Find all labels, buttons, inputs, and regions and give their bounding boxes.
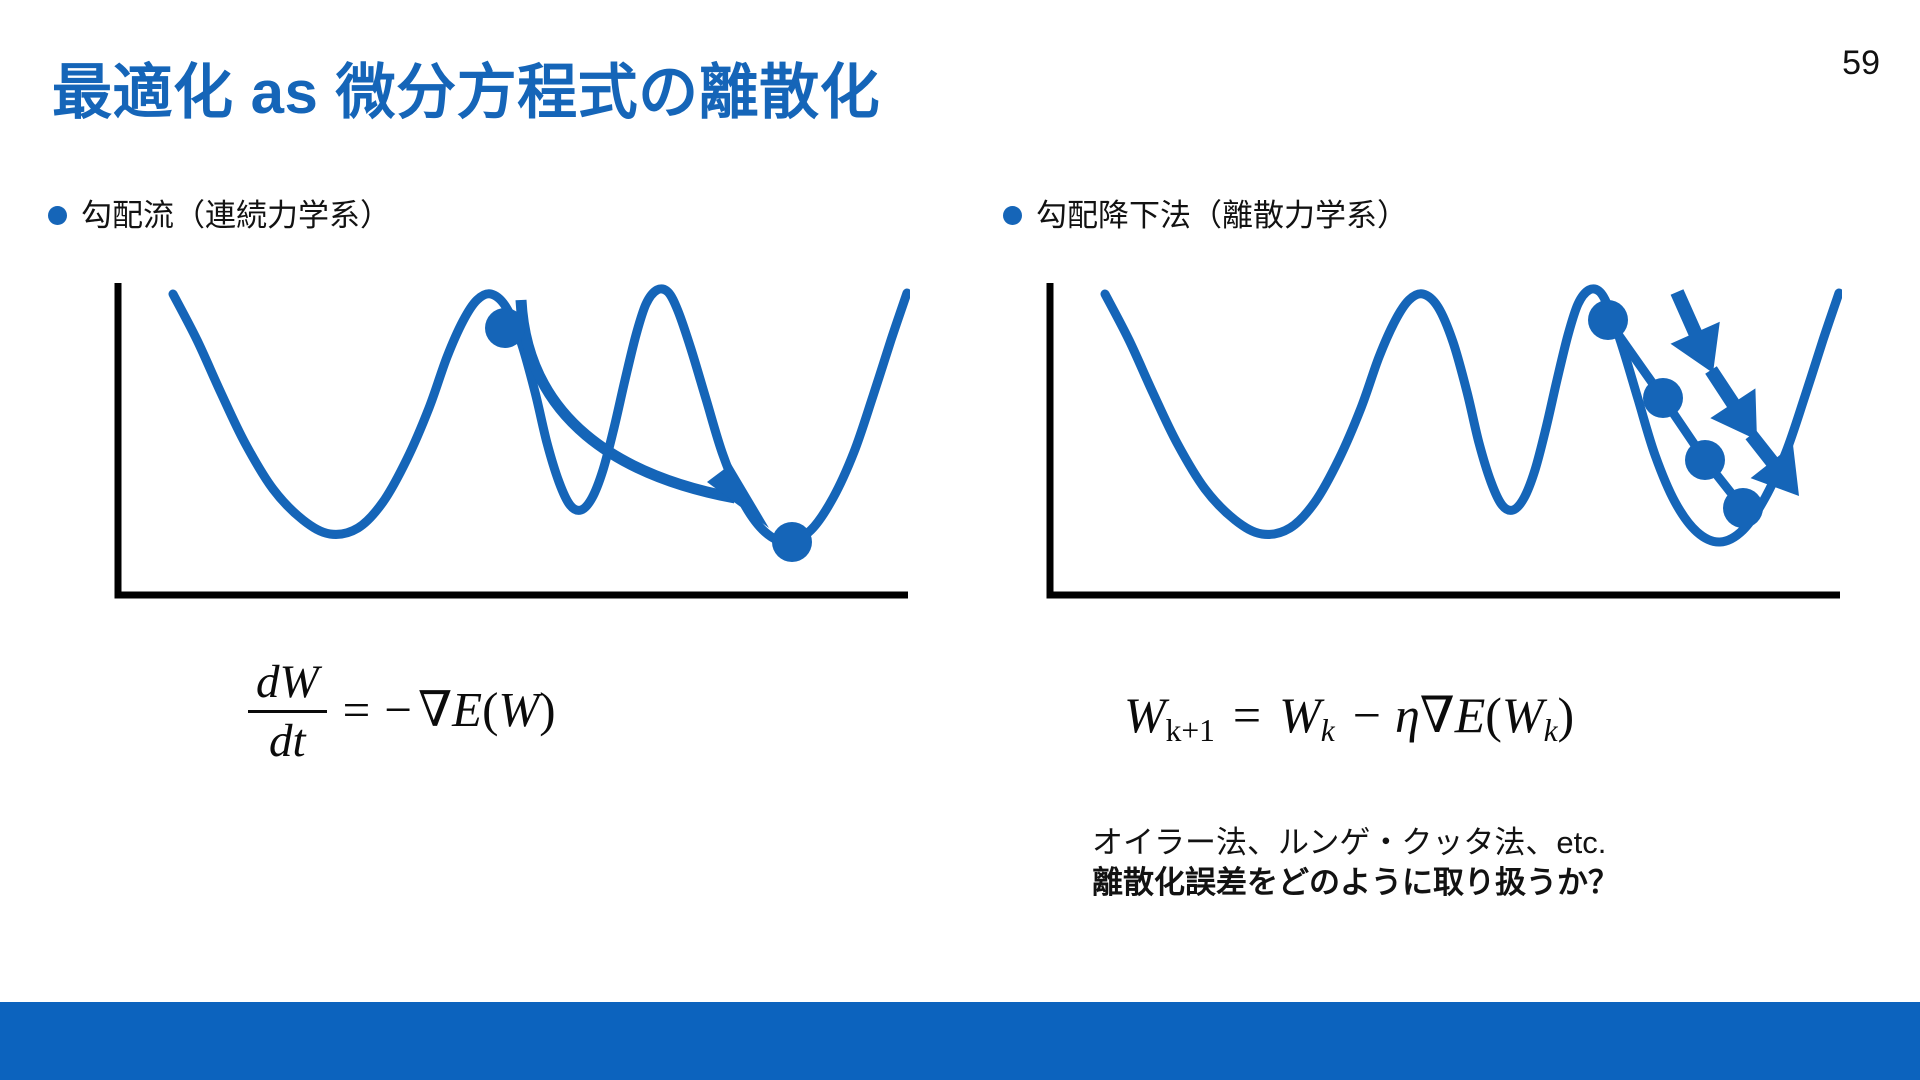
- descent-step-arrow-2: [1705, 366, 1757, 440]
- iterate-w-k1: [1643, 378, 1683, 418]
- arg-subscript: k: [1544, 713, 1558, 749]
- close-paren: ): [539, 681, 555, 738]
- fraction-bar: [248, 710, 327, 713]
- nabla-symbol: ∇: [1420, 686, 1455, 744]
- close-paren: ): [1558, 686, 1575, 744]
- gradient-descent-plot: [1012, 270, 1842, 610]
- arg-weight-symbol: W: [1502, 686, 1544, 744]
- energy-landscape-curve: [173, 289, 907, 542]
- minus-sign: −: [1353, 686, 1381, 744]
- open-paren: (: [482, 681, 498, 738]
- bullet-right-label: 勾配降下法（離散力学系）: [1036, 200, 1408, 231]
- gradient-flow-formula: dW dt = − ∇ E ( W ): [248, 655, 556, 765]
- bullet-left: 勾配流（連続力学系）: [48, 200, 391, 231]
- end-point: [772, 522, 812, 562]
- fraction-numerator: dW: [248, 657, 327, 707]
- lhs-subscript: k+1: [1166, 713, 1215, 748]
- lhs-weight-symbol: W: [1124, 686, 1166, 744]
- weight-symbol: W: [498, 681, 539, 738]
- bullet-dot-icon: [1003, 206, 1022, 225]
- note-line-question: 離散化誤差をどのように取り扱うか？: [1092, 863, 1619, 903]
- open-paren: (: [1485, 686, 1502, 744]
- bullet-dot-icon: [48, 206, 67, 225]
- bullet-right: 勾配降下法（離散力学系）: [1003, 200, 1408, 231]
- minus-sign: −: [384, 681, 412, 738]
- equals-sign: =: [1233, 686, 1261, 744]
- iterate-w-k0: [1588, 300, 1628, 340]
- descent-step-arrow-1: [1671, 289, 1720, 373]
- nabla-symbol: ∇: [418, 681, 452, 738]
- bullet-left-label: 勾配流（連続力学系）: [81, 200, 391, 231]
- bottom-accent-bar: [0, 1002, 1920, 1080]
- discretization-notes: オイラー法、ルンゲ・クッタ法、etc. 離散化誤差をどのように取り扱うか？: [1092, 823, 1619, 904]
- note-line-methods: オイラー法、ルンゲ・クッタ法、etc.: [1092, 823, 1619, 863]
- energy-symbol: E: [452, 681, 482, 738]
- derivative-fraction: dW dt: [248, 657, 327, 767]
- fraction-denominator: dt: [261, 716, 314, 766]
- equals-sign: =: [343, 681, 371, 738]
- rhs-weight-symbol: W: [1279, 686, 1321, 744]
- gradient-descent-formula: Wk+1 = Wk − η ∇ E ( Wk ): [1124, 686, 1574, 744]
- page-title: 最適化 as 微分方程式の離散化: [52, 44, 880, 131]
- rhs-subscript: k: [1321, 713, 1335, 749]
- page-number: 59: [1842, 44, 1880, 83]
- iterate-w-k2: [1685, 440, 1725, 480]
- start-point: [485, 308, 525, 348]
- energy-symbol: E: [1455, 686, 1486, 744]
- gradient-flow-plot: [80, 270, 910, 610]
- gradient-flow-chart: [80, 270, 910, 610]
- eta-symbol: η: [1395, 686, 1420, 744]
- gradient-descent-chart: [1012, 270, 1842, 610]
- iterate-w-k3: [1723, 488, 1763, 528]
- continuous-flow-arrow: [521, 300, 769, 528]
